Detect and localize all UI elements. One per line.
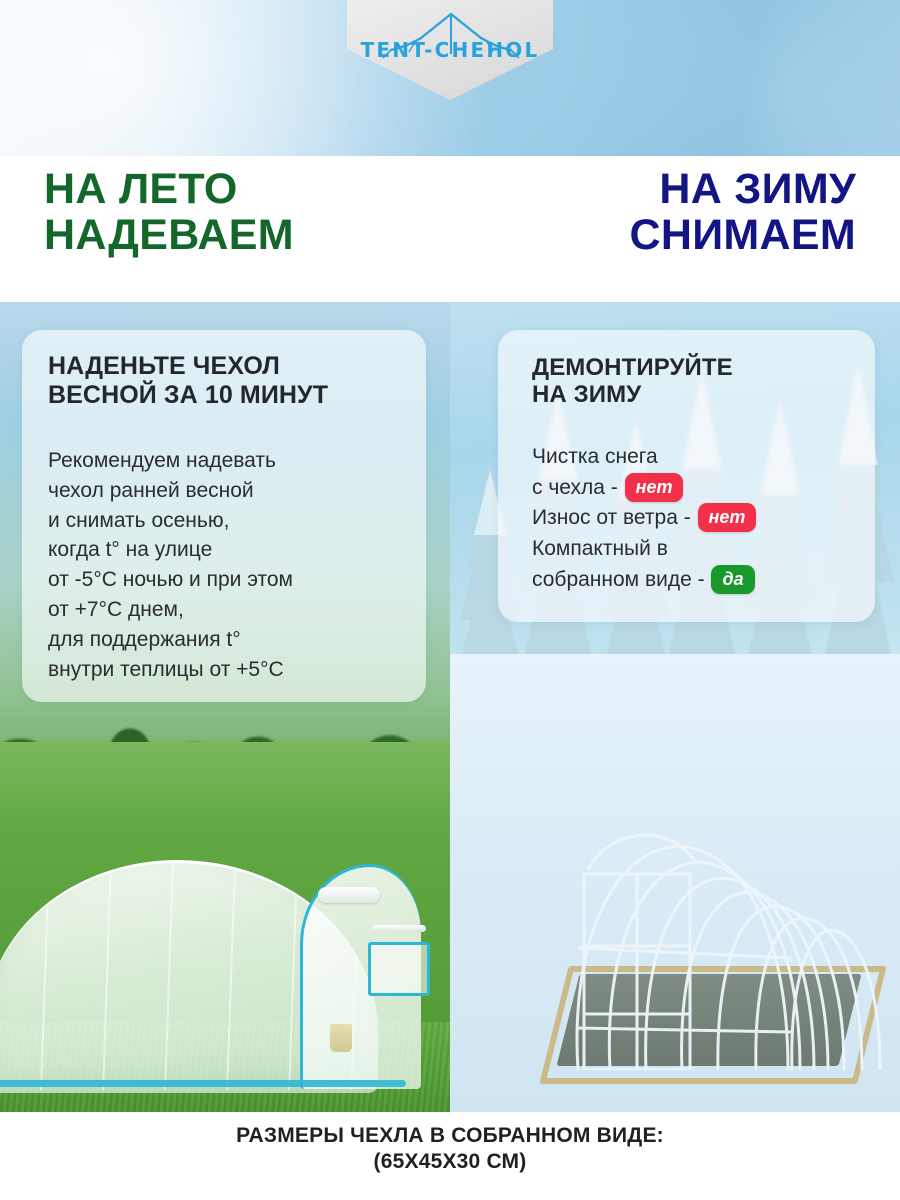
headline-winter: НА ЗИМУ СНИМАЕМ xyxy=(630,166,857,258)
headline-band: НА ЛЕТО НАДЕВАЕМ НА ЗИМУ СНИМАЕМ xyxy=(0,156,900,302)
fact-text: Чистка снега xyxy=(532,445,658,468)
summer-info-card: НАДЕНЬТЕ ЧЕХОЛ ВЕСНОЙ ЗА 10 МИНУТ Рекоме… xyxy=(22,330,426,702)
fact-row: собранном виде - да xyxy=(532,565,756,596)
size-banner-line1: РАЗМЕРЫ ЧЕХЛА В СОБРАННОМ ВИДЕ: xyxy=(236,1124,664,1148)
greenhouse-bare-frame xyxy=(470,788,890,1070)
winter-facts-list: Чистка снега с чехла - нет Износ от ветр… xyxy=(532,442,756,595)
size-banner-line2: (65X45X30 СМ) xyxy=(374,1150,527,1174)
fact-row: Чистка снега xyxy=(532,442,756,473)
rolled-cover-detail xyxy=(318,887,380,903)
fact-text: с чехла - xyxy=(532,476,624,499)
summer-card-body: Рекомендуем надевать чехол ранней весной… xyxy=(48,446,410,685)
summer-card-title: НАДЕНЬТЕ ЧЕХОЛ ВЕСНОЙ ЗА 10 МИНУТ xyxy=(48,352,406,409)
headline-summer: НА ЛЕТО НАДЕВАЕМ xyxy=(44,166,294,258)
cover-bottom-trim xyxy=(0,1080,406,1087)
fact-text: Износ от ветра - xyxy=(532,506,697,529)
door-bar-detail xyxy=(372,925,426,932)
promo-infographic: TENT-CHEHOL НА ЛЕТО НАДЕВАЕМ НА ЗИМУ СНИ… xyxy=(0,0,900,1200)
status-badge-no: нет xyxy=(698,503,757,532)
fact-row: Износ от ветра - нет xyxy=(532,503,756,534)
fact-text: Компактный в xyxy=(532,537,668,560)
status-badge-yes: да xyxy=(711,565,754,594)
cover-window xyxy=(368,942,430,996)
size-banner: РАЗМЕРЫ ЧЕХЛА В СОБРАННОМ ВИДЕ: (65X45X3… xyxy=(150,1112,750,1186)
logo-wordmark: TENT-CHEHOL xyxy=(347,38,553,62)
fact-text: собранном виде - xyxy=(532,568,710,591)
winter-info-card: ДЕМОНТИРУЙТЕ НА ЗИМУ Чистка снега с чехл… xyxy=(498,330,875,622)
winter-card-title: ДЕМОНТИРУЙТЕ НА ЗИМУ xyxy=(532,354,855,409)
fact-row: с чехла - нет xyxy=(532,473,756,504)
status-badge-no: нет xyxy=(625,473,684,502)
fact-row: Компактный в xyxy=(532,534,756,565)
bucket-detail xyxy=(330,1024,352,1052)
